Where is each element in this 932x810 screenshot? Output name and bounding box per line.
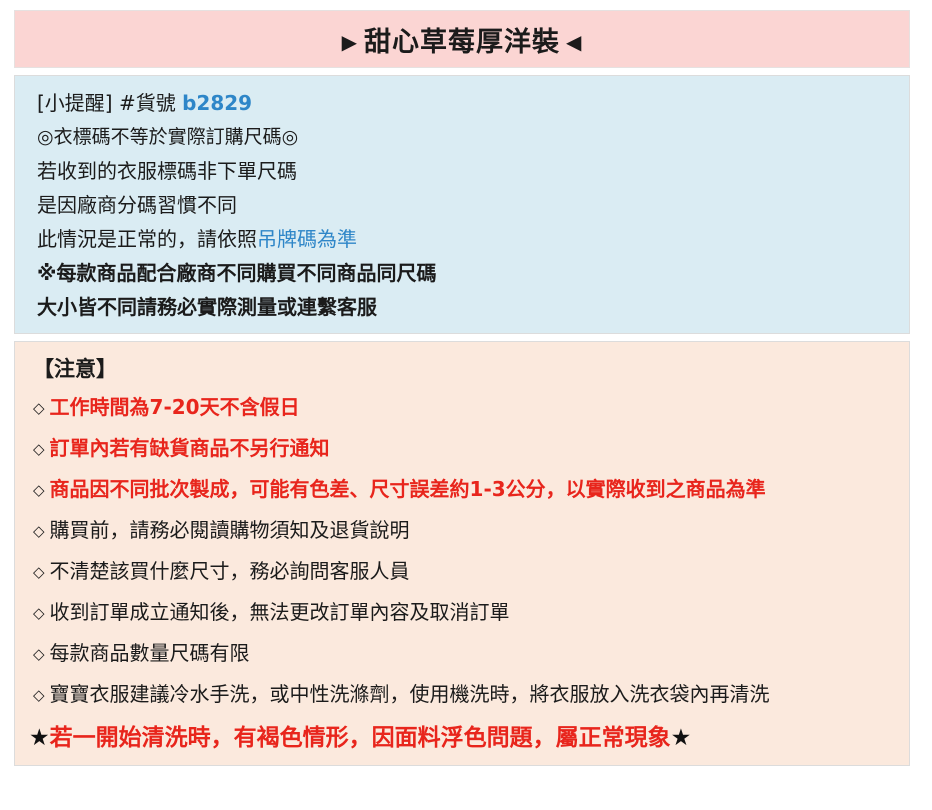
size-notice-line-1: [小提醒] #貨號 b2829 [37, 86, 909, 120]
attention-item-8: ◇寶寶衣服建議冷水手洗，或中性洗滌劑，使用機洗時，將衣服放入洗衣袋內再清洗 [33, 674, 909, 715]
attention-item-4: ◇購買前，請務必閱讀購物須知及退貨說明 [33, 510, 909, 551]
diamond-bullet-icon: ◇ [33, 440, 45, 458]
attention-item-5-text: 不清楚該買什麼尺寸，務必詢問客服人員 [50, 559, 410, 583]
diamond-bullet-icon: ◇ [33, 645, 45, 663]
star-icon-left: ★ [29, 725, 50, 751]
attention-item-6: ◇收到訂單成立通知後，無法更改訂單內容及取消訂單 [33, 592, 909, 633]
attention-item-3: ◇商品因不同批次製成，可能有色差、尺寸誤差約1-3公分，以實際收到之商品為準 [33, 469, 909, 510]
attention-item-1-text: 工作時間為7-20天不含假日 [50, 395, 300, 419]
diamond-bullet-icon: ◇ [33, 604, 45, 622]
attention-footer-note: ★若一開始清洗時，有褐色情形，因面料浮色問題，屬正常現象★ [29, 717, 909, 759]
diamond-bullet-icon: ◇ [33, 481, 45, 499]
attention-item-5: ◇不清楚該買什麼尺寸，務必詢問客服人員 [33, 551, 909, 592]
attention-item-6-text: 收到訂單成立通知後，無法更改訂單內容及取消訂單 [50, 600, 510, 624]
product-title-banner: ▶甜心草莓厚洋裝◀ [14, 10, 910, 68]
diamond-bullet-icon: ◇ [33, 522, 45, 540]
attention-heading: 【注意】 [33, 351, 909, 387]
attention-item-3-text: 商品因不同批次製成，可能有色差、尺寸誤差約1-3公分，以實際收到之商品為準 [50, 477, 766, 501]
size-notice-line-6: ※每款商品配合廠商不同購買不同商品同尺碼 [37, 256, 909, 290]
diamond-bullet-icon: ◇ [33, 563, 45, 581]
attention-item-7-text: 每款商品數量尺碼有限 [50, 641, 250, 665]
diamond-bullet-icon: ◇ [33, 399, 45, 417]
diamond-bullet-icon: ◇ [33, 686, 45, 704]
size-notice-box: [小提醒] #貨號 b2829 ◎衣標碼不等於實際訂購尺碼◎ 若收到的衣服標碼非… [14, 75, 910, 334]
left-triangle-icon: ▶ [342, 30, 358, 54]
size-notice-line-2: ◎衣標碼不等於實際訂購尺碼◎ [37, 120, 909, 154]
right-triangle-icon: ◀ [566, 30, 582, 54]
hangtag-emphasis: 吊牌碼為準 [257, 227, 357, 251]
size-notice-line-7: 大小皆不同請務必實際測量或連繫客服 [37, 290, 909, 324]
size-notice-line-5-prefix: 此情況是正常的，請依照 [37, 227, 257, 251]
product-notice-page: ▶甜心草莓厚洋裝◀ [小提醒] #貨號 b2829 ◎衣標碼不等於實際訂購尺碼◎… [0, 0, 932, 810]
product-code-label: [小提醒] #貨號 [37, 91, 176, 115]
size-notice-line-4: 是因廠商分碼習慣不同 [37, 188, 909, 222]
page-title: ▶甜心草莓厚洋裝◀ [342, 20, 583, 59]
size-notice-line-5: 此情況是正常的，請依照吊牌碼為準 [37, 222, 909, 256]
size-notice-line-3: 若收到的衣服標碼非下單尺碼 [37, 154, 909, 188]
page-title-text: 甜心草莓厚洋裝 [364, 27, 560, 58]
star-icon-right: ★ [671, 725, 692, 751]
attention-notice-box: 【注意】 ◇工作時間為7-20天不含假日 ◇訂單內若有缺貨商品不另行通知 ◇商品… [14, 341, 910, 766]
attention-item-4-text: 購買前，請務必閱讀購物須知及退貨說明 [50, 518, 410, 542]
attention-footer-text: 若一開始清洗時，有褐色情形，因面料浮色問題，屬正常現象 [50, 725, 671, 751]
product-code-value: b2829 [182, 91, 252, 115]
attention-item-7: ◇每款商品數量尺碼有限 [33, 633, 909, 674]
attention-item-8-text: 寶寶衣服建議冷水手洗，或中性洗滌劑，使用機洗時，將衣服放入洗衣袋內再清洗 [50, 682, 770, 706]
attention-item-2: ◇訂單內若有缺貨商品不另行通知 [33, 428, 909, 469]
attention-item-2-text: 訂單內若有缺貨商品不另行通知 [50, 436, 330, 460]
attention-item-1: ◇工作時間為7-20天不含假日 [33, 387, 909, 428]
